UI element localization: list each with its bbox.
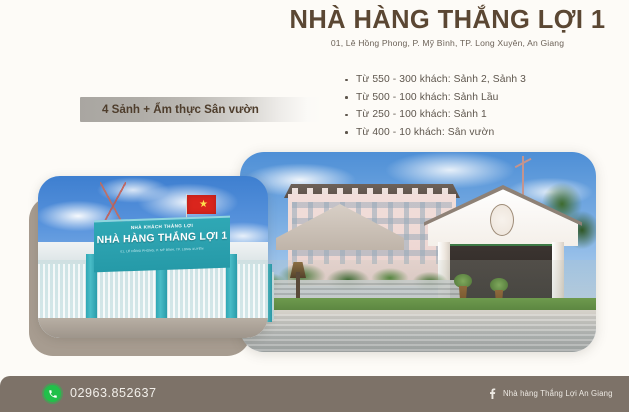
facebook-page-name: Nhà hàng Thắng Lợi An Giang [503,388,613,399]
facebook-contact[interactable]: Nhà hàng Thắng Lợi An Giang [488,388,613,399]
foreground-ground [38,318,268,338]
plaza-reflection [240,314,596,352]
page-title: NHÀ HÀNG THẮNG LỢI 1 [270,5,625,35]
feature-badge: 4 Sảnh + Ẩm thực Sân vườn [80,97,322,122]
potted-plant [454,274,472,288]
feature-badge-label: 4 Sảnh + Ẩm thực Sân vườn [102,102,259,118]
list-item: Từ 400 - 10 khách: Sân vườn [343,124,526,142]
potted-plant [490,278,508,292]
phone-number: 02963.852637 [70,385,157,402]
facebook-icon [488,388,497,399]
capacity-list: Từ 550 - 300 khách: Sảnh 2, Sảnh 3 Từ 50… [343,71,526,141]
photo-restaurant-facade: ★ NHÀ KHÁCH THẮNG LỢI NHÀ HÀNG THẮNG LỢI… [38,176,268,338]
footer-bar: 02963.852637 Nhà hàng Thắng Lợi An Giang [0,376,629,412]
slide-canvas: NHÀ HÀNG THẮNG LỢI 1 01, Lê Hồng Phong, … [0,0,629,412]
list-item: Từ 250 - 100 khách: Sảnh 1 [343,106,526,124]
photo-garden-hotel [240,152,596,352]
list-item: Từ 500 - 100 khách: Sảnh Lầu [343,89,526,107]
phone-icon [44,385,61,402]
pavilion-medallion [490,204,514,236]
phone-contact[interactable]: 02963.852637 [44,385,157,402]
flag-star-icon: ★ [199,200,208,210]
address-line: 01, Lê Hồng Phong, P. Mỹ Bình, TP. Long … [270,37,625,49]
list-item: Từ 550 - 300 khách: Sảnh 2, Sảnh 3 [343,71,526,89]
